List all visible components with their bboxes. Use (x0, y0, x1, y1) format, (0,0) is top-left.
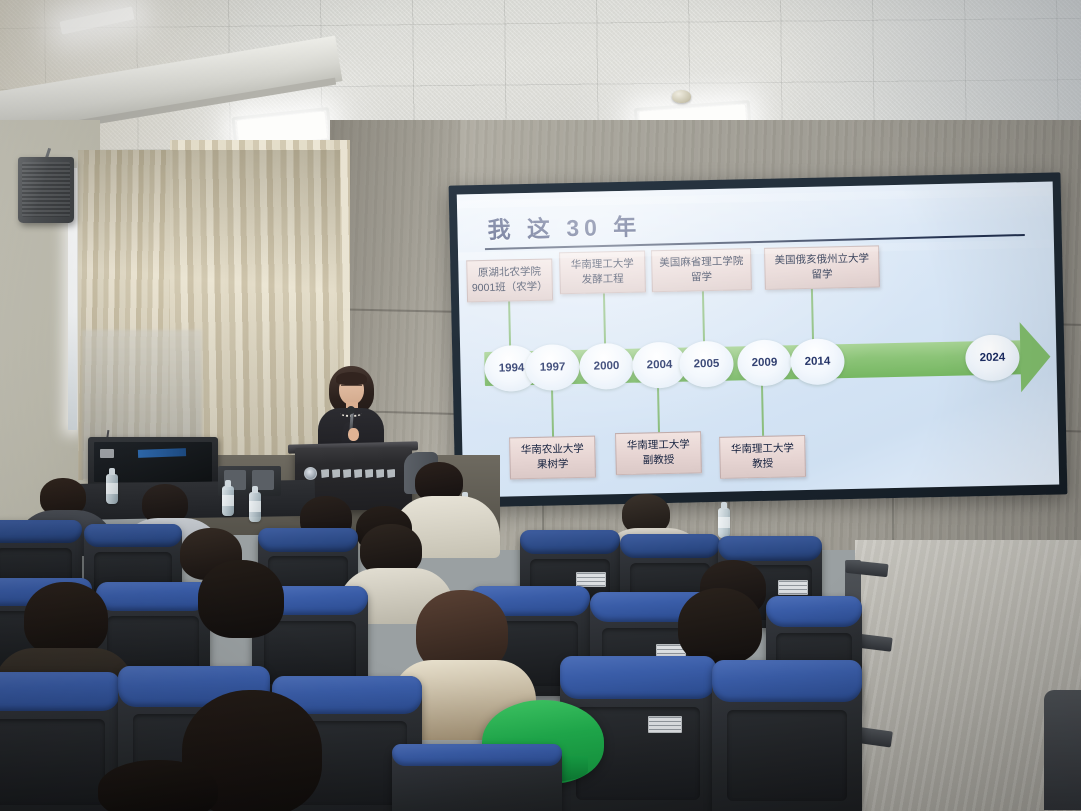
seat-cushion (258, 528, 358, 552)
seat-cushion (718, 536, 822, 561)
seat[interactable] (712, 660, 862, 811)
lecture-hall-scene: 我 这 30 年 原湖北农学院 (0, 0, 1081, 811)
seat-number-label (648, 716, 682, 733)
seat-number-label (576, 572, 606, 587)
audience-seating (0, 0, 1081, 811)
seat-back-shell (0, 719, 105, 805)
seat-cushion (84, 524, 182, 547)
seat-cushion (620, 534, 720, 558)
seat-number-label (778, 580, 808, 595)
seat-cushion (96, 582, 210, 611)
audience-head (198, 560, 284, 638)
audience-head-foreground (98, 760, 218, 811)
seat-cushion (0, 520, 82, 543)
seat-cushion (0, 672, 120, 711)
seat-cushion (766, 596, 862, 627)
seat-cushion (712, 660, 862, 702)
seat-cushion (520, 530, 620, 554)
audience-head (678, 588, 762, 664)
seat-cushion (560, 656, 716, 699)
seat-cushion (392, 744, 562, 766)
audience-head (24, 582, 108, 656)
seat-back-shell (264, 621, 357, 685)
seat-back-shell (727, 710, 847, 801)
seat[interactable] (392, 744, 562, 811)
